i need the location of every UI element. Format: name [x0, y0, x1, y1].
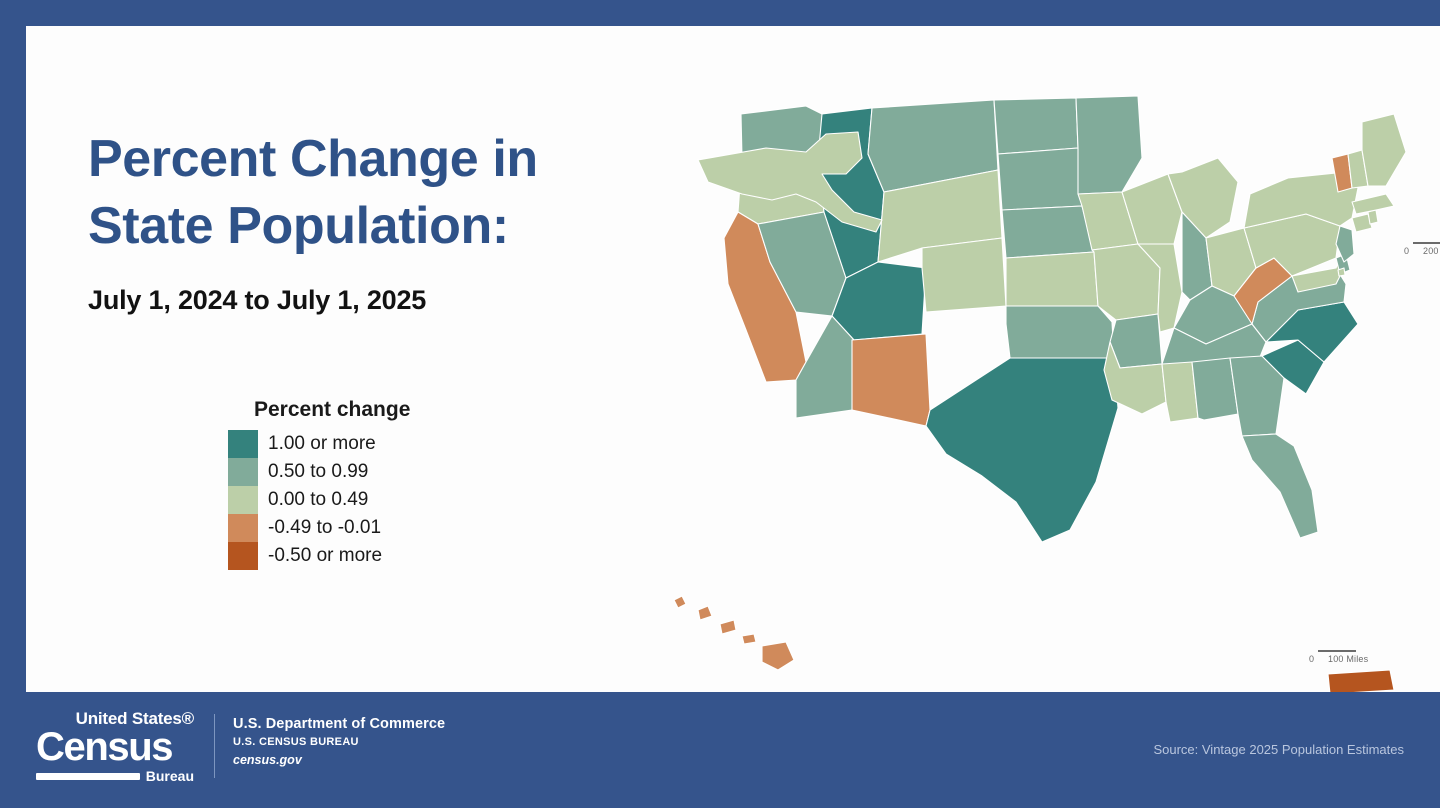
state-sd: [998, 148, 1082, 210]
state-hi: [674, 596, 794, 670]
legend-swatch-icon: [228, 542, 258, 570]
scale-zero-label: 0: [1309, 654, 1318, 664]
state-fl: [1242, 434, 1318, 538]
state-ks: [1006, 252, 1098, 306]
page-subtitle: July 1, 2024 to July 1, 2025: [88, 285, 688, 316]
state-az: [796, 316, 854, 418]
content-panel: Percent Change in State Population: July…: [26, 26, 1440, 692]
legend-item: 0.00 to 0.49: [228, 486, 410, 514]
logo-census-text: Census: [36, 728, 194, 766]
scale-distance-label: 100 Miles: [1328, 654, 1368, 664]
scale-distance-label: 200 Miles: [1423, 246, 1440, 256]
states-layer: [674, 96, 1406, 692]
legend-title: Percent change: [228, 398, 410, 422]
legend-swatch-icon: [228, 514, 258, 542]
state-nm: [852, 334, 930, 426]
logo-divider: [214, 714, 215, 778]
scale-bar-hawaii: 0 100 Miles: [1309, 650, 1368, 664]
state-ne: [1002, 206, 1094, 258]
state-ar: [1110, 314, 1162, 368]
legend-swatch-icon: [228, 430, 258, 458]
state-dc: [1338, 268, 1345, 276]
census-logo-group: United States® Census Bureau U.S. Depart…: [36, 710, 445, 783]
state-nd: [994, 98, 1078, 154]
legend-item: -0.49 to -0.01: [228, 514, 410, 542]
legend-item: 0.50 to 0.99: [228, 458, 410, 486]
legend-item-label: 0.50 to 0.99: [268, 461, 368, 483]
legend-item-label: -0.49 to -0.01: [268, 517, 381, 539]
state-me: [1362, 114, 1406, 186]
state-co: [922, 238, 1006, 312]
census-bureau-logo: United States® Census Bureau: [36, 710, 194, 783]
scale-bar-alaska: 0 200 Miles: [1404, 242, 1440, 256]
title-line-1: Percent Change in: [88, 126, 688, 193]
bureau-label: U.S. CENSUS BUREAU: [233, 736, 445, 748]
legend-item-label: 0.00 to 0.49: [268, 489, 368, 511]
slide-root: Percent Change in State Population: July…: [0, 0, 1440, 808]
website-label: census.gov: [233, 753, 445, 767]
state-ri: [1368, 210, 1378, 224]
scale-bar-line: [1413, 242, 1440, 244]
legend-swatch-icon: [228, 486, 258, 514]
footer-bar: United States® Census Bureau U.S. Depart…: [0, 692, 1440, 808]
title-block: Percent Change in State Population: July…: [88, 126, 688, 316]
legend-swatch-icon: [228, 458, 258, 486]
choropleth-map: 0 200 Miles 0 100 Miles 0 100 Miles: [646, 62, 1440, 692]
state-ma: [1352, 194, 1394, 214]
map-legend: Percent change 1.00 or more 0.50 to 0.99…: [228, 398, 410, 570]
logo-bar-icon: [36, 773, 140, 780]
scale-zero-label: 0: [1404, 246, 1413, 256]
logo-bottom-row: Bureau: [36, 769, 194, 783]
state-tx: [926, 358, 1118, 542]
legend-item-label: 1.00 or more: [268, 433, 376, 455]
source-note: Source: Vintage 2025 Population Estimate…: [1153, 742, 1404, 757]
legend-item: 1.00 or more: [228, 430, 410, 458]
state-ok: [1006, 306, 1114, 358]
agency-text-block: U.S. Department of Commerce U.S. CENSUS …: [233, 710, 445, 767]
logo-bureau-text: Bureau: [146, 769, 194, 783]
page-title: Percent Change in State Population:: [88, 126, 688, 259]
legend-item: -0.50 or more: [228, 542, 410, 570]
state-mn: [1076, 96, 1142, 194]
state-pr: [1328, 670, 1394, 692]
title-line-2: State Population:: [88, 193, 688, 260]
department-label: U.S. Department of Commerce: [233, 716, 445, 732]
scale-bar-line: [1318, 650, 1356, 652]
legend-item-label: -0.50 or more: [268, 545, 382, 567]
